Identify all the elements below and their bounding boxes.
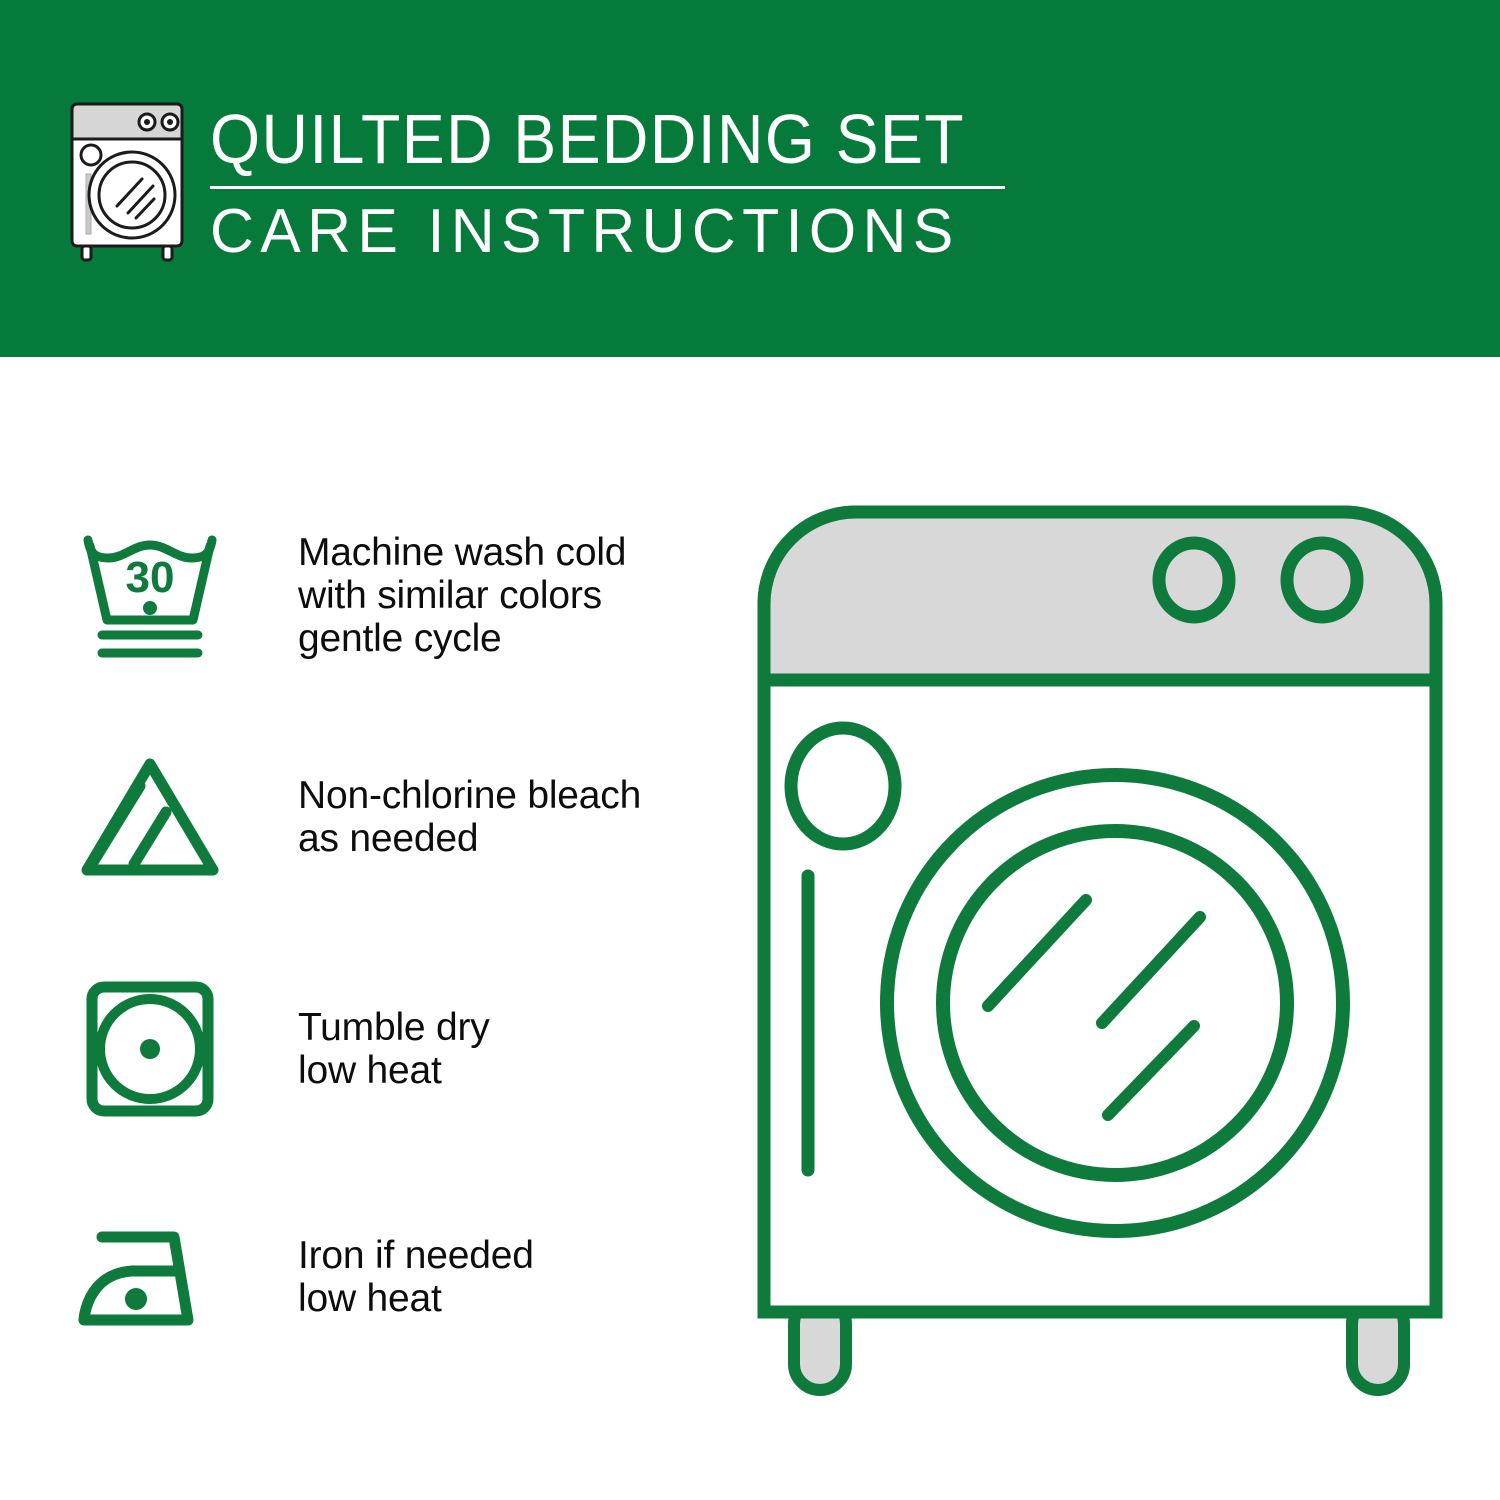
care-text-wash: Machine wash cold with similar colors ge… [230,531,710,660]
care-text-bleach: Non-chlorine bleach as needed [230,774,710,860]
care-line: low heat [298,1049,710,1092]
care-text-iron: Iron if needed low heat [230,1234,710,1320]
care-label-page: QUILTED BEDDING SET CARE INSTRUCTIONS 30 [0,0,1500,1500]
page-title: QUILTED BEDDING SET [210,102,994,176]
washing-machine-icon [62,96,192,264]
care-text-tumble-dry: Tumble dry low heat [230,1006,710,1092]
header-titles: QUILTED BEDDING SET CARE INSTRUCTIONS [210,96,1062,267]
wash-temp-label: 30 [126,553,175,602]
care-line: as needed [298,817,710,860]
care-line: Non-chlorine bleach [298,774,710,817]
tumble-dry-low-icon [70,974,230,1124]
care-line: Tumble dry [298,1006,710,1049]
page-subtitle: CARE INSTRUCTIONS [210,197,1045,267]
non-chlorine-bleach-triangle-icon [70,742,230,892]
wash-tub-30-gentle-icon: 30 [70,520,230,670]
front-load-washing-machine-illustration [750,498,1450,1418]
care-line: low heat [298,1277,710,1320]
title-divider [210,186,1005,189]
care-line: with similar colors [298,574,710,617]
care-line: Machine wash cold [298,531,710,574]
care-instructions-list: 30 Machine wash cold with similar colors… [0,357,740,1500]
header-content: QUILTED BEDDING SET CARE INSTRUCTIONS [62,96,1062,276]
care-row-iron: Iron if needed low heat [70,1202,710,1352]
care-line: Iron if needed [298,1234,710,1277]
iron-low-heat-icon [70,1202,230,1352]
care-row-bleach: Non-chlorine bleach as needed [70,742,710,892]
care-line: gentle cycle [298,617,710,660]
care-row-wash: 30 Machine wash cold with similar colors… [70,520,710,670]
header-banner: QUILTED BEDDING SET CARE INSTRUCTIONS [0,0,1500,357]
care-row-tumble-dry: Tumble dry low heat [70,974,710,1124]
